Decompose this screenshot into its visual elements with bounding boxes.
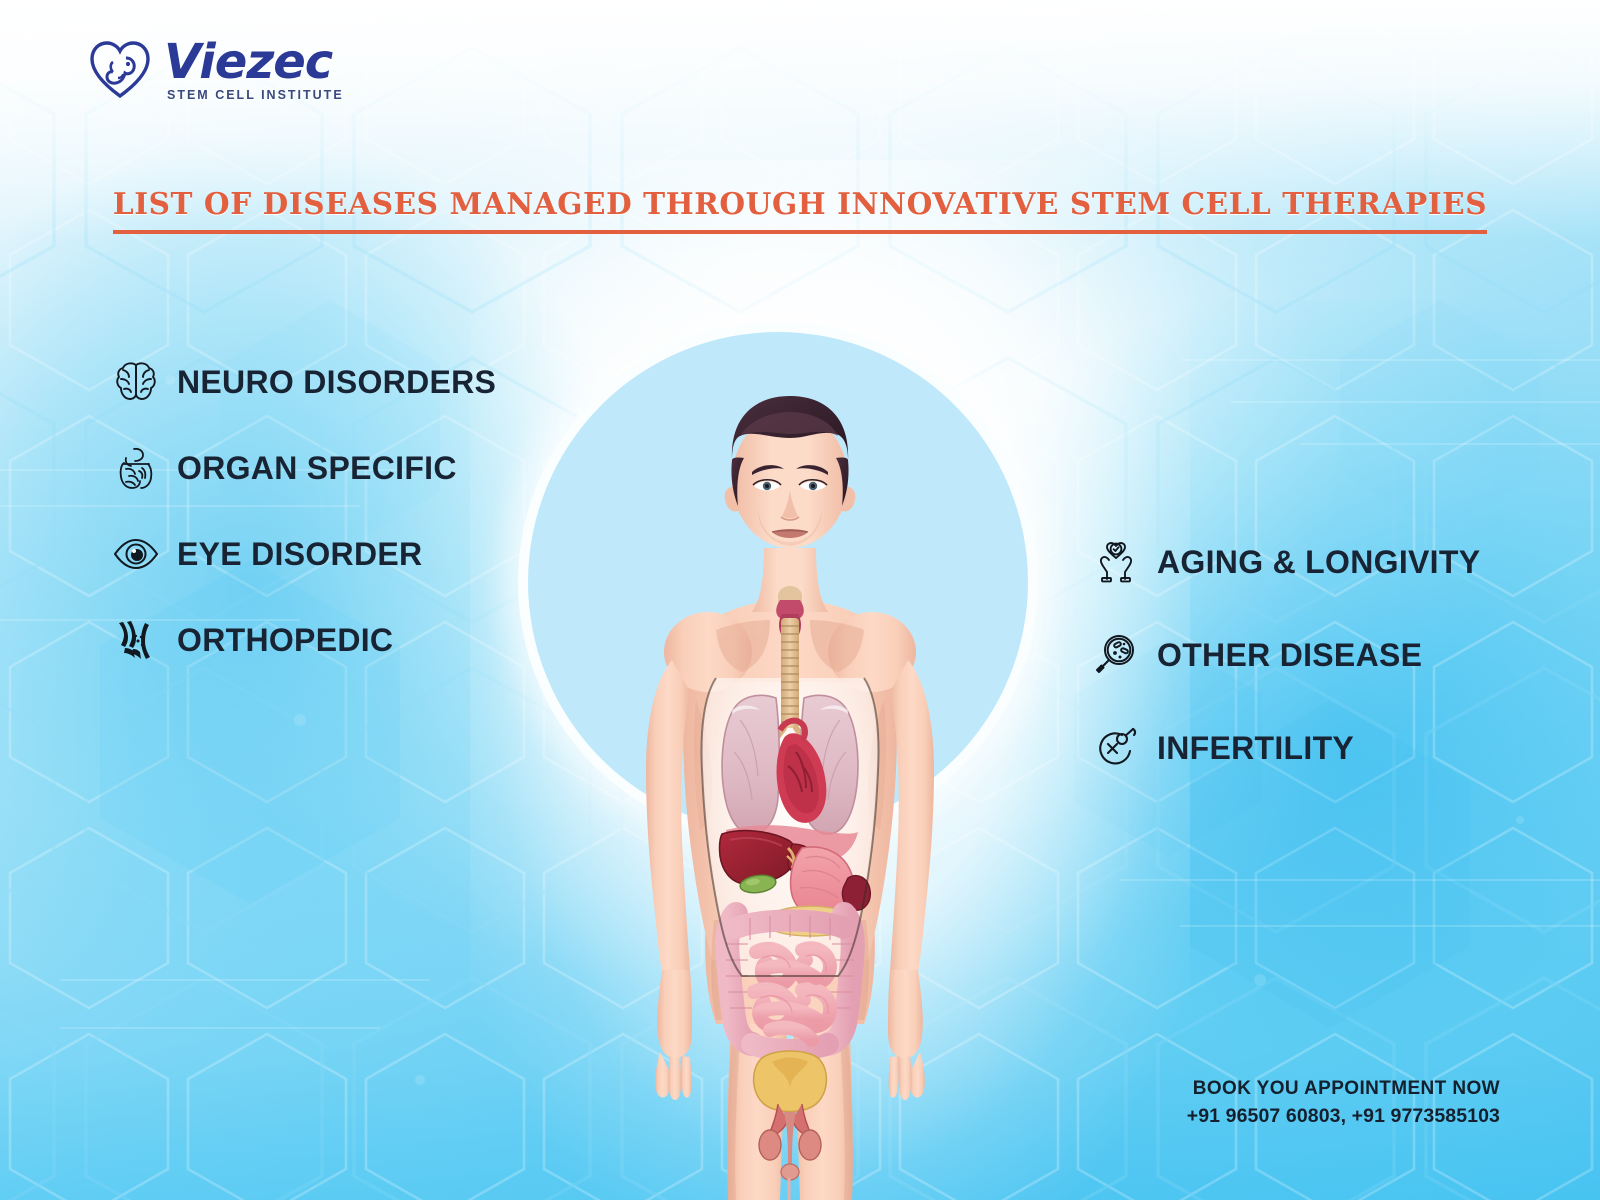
- knee-joint-icon: [112, 616, 160, 664]
- category-item-other-disease[interactable]: OTHER DISEASE: [1092, 631, 1480, 679]
- head: [725, 396, 856, 548]
- male-anatomy-illustration: [440, 300, 1140, 1200]
- category-item-organ-specific[interactable]: ORGAN SPECIFIC: [112, 444, 496, 492]
- category-label: ORTHOPEDIC: [177, 622, 393, 659]
- booking-cta: BOOK YOU APPOINTMENT NOW +91 96507 60803…: [1187, 1078, 1500, 1128]
- brand-name: Viezec: [164, 38, 344, 86]
- category-label: ORGAN SPECIFIC: [177, 450, 457, 487]
- category-label: AGING & LONGIVITY: [1157, 544, 1480, 581]
- category-label: OTHER DISEASE: [1157, 637, 1422, 674]
- heart-embryo-icon: [88, 38, 152, 102]
- cta-phone-numbers[interactable]: +91 96507 60803, +91 9773585103: [1187, 1105, 1500, 1128]
- eye-icon: [112, 530, 160, 578]
- brand-tagline: STEM CELL INSTITUTE: [164, 89, 344, 102]
- category-label: INFERTILITY: [1157, 730, 1354, 767]
- brain-icon: [112, 358, 160, 406]
- category-item-eye-disorder[interactable]: EYE DISORDER: [112, 530, 496, 578]
- anatomy-figure-zone: [440, 300, 1140, 1200]
- brand-logo[interactable]: Viezec STEM CELL INSTITUTE: [88, 38, 344, 102]
- intestine-icon: [112, 444, 160, 492]
- category-item-neuro-disorders[interactable]: NEURO DISORDERS: [112, 358, 496, 406]
- page-title-wrap: LIST OF DISEASES MANAGED THROUGH INNOVAT…: [0, 186, 1600, 234]
- category-list-right: AGING & LONGIVITY OTHER DISEASE: [1092, 538, 1480, 772]
- category-item-aging-longivity[interactable]: AGING & LONGIVITY: [1092, 538, 1480, 586]
- category-item-infertility[interactable]: INFERTILITY: [1092, 724, 1480, 772]
- category-item-orthopedic[interactable]: ORTHOPEDIC: [112, 616, 496, 664]
- page-title: LIST OF DISEASES MANAGED THROUGH INNOVAT…: [113, 186, 1487, 234]
- category-label: EYE DISORDER: [177, 536, 422, 573]
- cta-heading: BOOK YOU APPOINTMENT NOW: [1187, 1078, 1500, 1100]
- category-list-left: NEURO DISORDERS ORGAN SPECIFIC: [112, 358, 496, 664]
